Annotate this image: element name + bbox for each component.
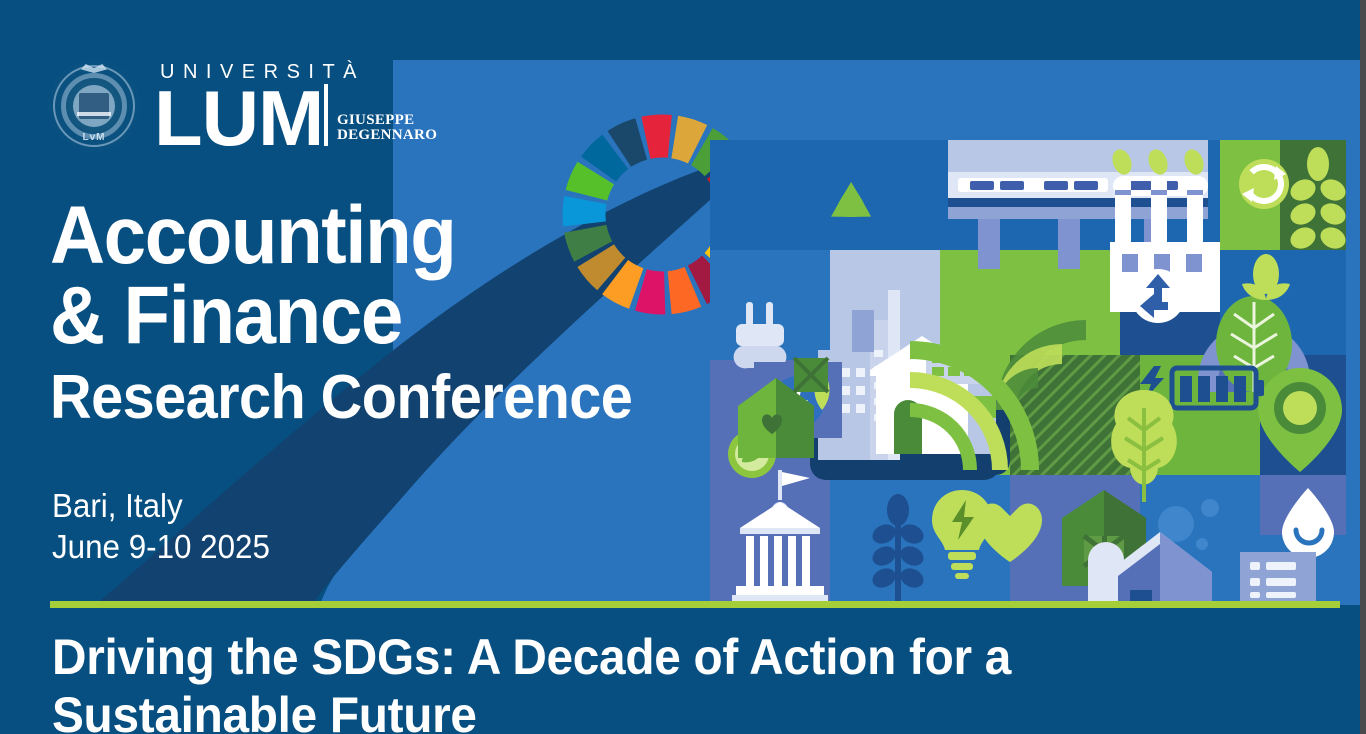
- logo-subtitle-line1: GIUSEPPE: [337, 113, 437, 128]
- logo-divider: [324, 84, 328, 146]
- apartment-icon: [1240, 552, 1316, 602]
- page-title: Accounting & Finance Research Conference: [50, 196, 676, 430]
- lum-university-logo: LvM UNIVERSITÀ LUM GIUSEPPE DEGENNARO: [48, 60, 437, 152]
- headline-line-2: & Finance: [50, 276, 632, 356]
- logo-wordmark: UNIVERSITÀ LUM GIUSEPPE DEGENNARO: [154, 62, 437, 151]
- event-dates: June 9-10 2025: [52, 527, 270, 568]
- conference-tagline: Driving the SDGs: A Decade of Action for…: [52, 628, 1274, 734]
- seal-text: LvM: [48, 132, 140, 143]
- event-meta: Bari, Italy June 9-10 2025: [52, 486, 270, 568]
- recycle-arrows-icon: [1131, 269, 1185, 323]
- sdg-segment-1: [641, 115, 672, 159]
- refresh-circle-icon: [1239, 159, 1289, 209]
- headline-line-3: Research Conference: [50, 365, 632, 430]
- university-seal-icon: LvM: [48, 60, 140, 152]
- event-location: Bari, Italy: [52, 486, 270, 527]
- conference-banner: LvM UNIVERSITÀ LUM GIUSEPPE DEGENNARO Ac…: [0, 0, 1366, 734]
- accent-divider: [50, 601, 1340, 608]
- logo-lum-text: LUM: [154, 87, 323, 151]
- logo-subtitle-line2: DEGENNARO: [337, 128, 437, 143]
- logo-subtitle: GIUSEPPE DEGENNARO: [337, 113, 437, 144]
- sustainability-collage: [710, 140, 1346, 602]
- headline-line-1: Accounting: [50, 196, 632, 276]
- checkered-tile: [794, 358, 828, 392]
